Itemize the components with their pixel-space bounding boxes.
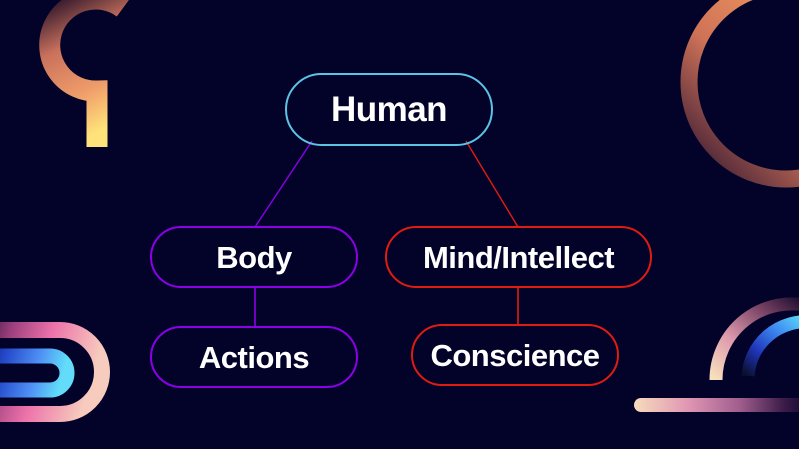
node-human[interactable]: Human (285, 73, 493, 146)
node-actions-label: Actions (199, 342, 309, 373)
diagram-nodes-layer: Human Body Mind/Intellect Actions Consci… (0, 0, 799, 449)
node-conscience[interactable]: Conscience (411, 324, 619, 386)
node-body[interactable]: Body (150, 226, 358, 288)
node-body-label: Body (216, 242, 292, 273)
node-conscience-label: Conscience (430, 340, 599, 371)
slide-canvas: Human Body Mind/Intellect Actions Consci… (0, 0, 799, 449)
node-mind-intellect[interactable]: Mind/Intellect (385, 226, 652, 288)
node-human-label: Human (331, 92, 447, 127)
node-actions[interactable]: Actions (150, 326, 358, 388)
node-mind-intellect-label: Mind/Intellect (423, 242, 614, 273)
